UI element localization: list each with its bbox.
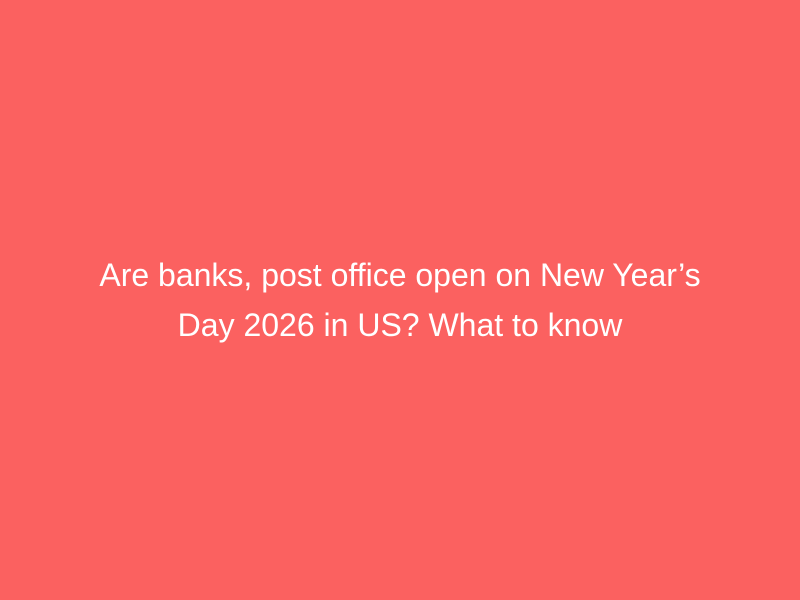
page-title: Are banks, post office open on New Year’… (80, 250, 720, 350)
headline-block: Are banks, post office open on New Year’… (80, 250, 720, 350)
article-share-card: Are banks, post office open on New Year’… (0, 0, 800, 600)
